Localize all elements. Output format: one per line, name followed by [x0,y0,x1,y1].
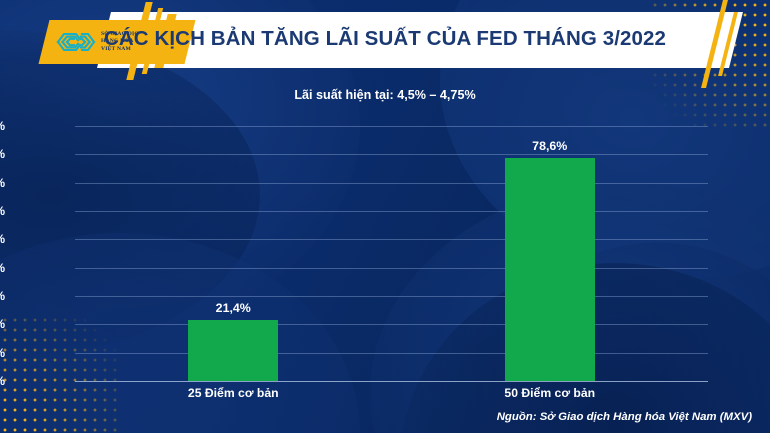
y-axis-tick-label: 0% [0,374,5,388]
header-bar: SỞ GIAO DỊCH HÀNG HÓA VIỆT NAM CÁC KỊCH … [0,0,770,86]
page-title: CÁC KỊCH BẢN TĂNG LÃI SUẤT CỦA FED THÁNG… [0,27,770,51]
gridline [75,239,708,240]
chart-slide: SỞ GIAO DỊCH HÀNG HÓA VIỆT NAM CÁC KỊCH … [0,0,770,433]
source-note: Nguồn: Sở Giao dịch Hàng hóa Việt Nam (M… [497,411,752,423]
bar-value-label: 21,4% [168,301,298,315]
y-axis-tick-label: 90% [0,119,5,133]
bar-value-label: 78,6% [485,139,615,153]
gridline [75,183,708,184]
y-axis-tick-label: 30% [0,289,5,303]
subtitle-current-rate: Lãi suất hiện tại: 4,5% – 4,75% [0,88,770,102]
y-axis-tick-label: 10% [0,346,5,360]
gridline [75,381,708,382]
gridline [75,154,708,155]
y-axis-tick-label: 50% [0,232,5,246]
gridline [75,211,708,212]
gridline [75,296,708,297]
gridline [75,353,708,354]
plot-area: 0%10%20%30%40%50%60%70%80%90%21,4%78,6% [75,126,708,381]
y-axis-tick-label: 60% [0,204,5,218]
x-axis-category-label: 25 Điểm cơ bản [143,386,323,400]
y-axis-tick-label: 80% [0,147,5,161]
x-axis-category-label: 50 Điểm cơ bản [460,386,640,400]
y-axis-tick-label: 40% [0,261,5,275]
y-axis-tick-label: 70% [0,176,5,190]
gridline [75,268,708,269]
bar[interactable] [505,158,595,381]
y-axis-tick-label: 20% [0,317,5,331]
bar-chart: 0%10%20%30%40%50%60%70%80%90%21,4%78,6% [0,118,770,380]
gridline [75,324,708,325]
bar[interactable] [188,320,278,381]
gridline [75,126,708,127]
